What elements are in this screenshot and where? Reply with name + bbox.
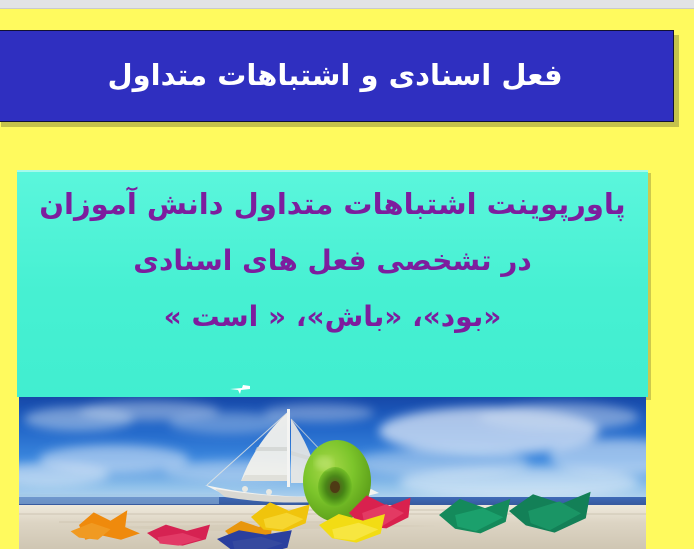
content-line-3: «بود»، «باش»، « است » — [27, 303, 638, 331]
slide-title-banner: فعل اسنادی و اشتباهات متداول — [0, 30, 674, 122]
slide-title-text: فعل اسنادی و اشتباهات متداول — [107, 60, 562, 92]
presentation-slide: فعل اسنادی و اشتباهات متداول پاورپوینت ا… — [0, 0, 694, 549]
content-line-1: پاورپوینت اشتباهات متداول دانش آموزان — [27, 190, 638, 219]
top-chrome-strip — [0, 0, 694, 9]
content-box: پاورپوینت اشتباهات متداول دانش آموزان در… — [17, 170, 648, 397]
beach-photo — [19, 397, 646, 549]
beach-photo-graphic — [19, 397, 646, 549]
content-line-2: در تشخصی فعل های اسنادی — [27, 247, 638, 275]
